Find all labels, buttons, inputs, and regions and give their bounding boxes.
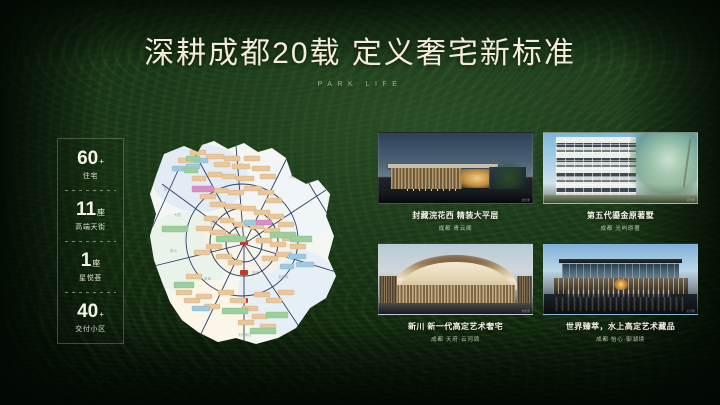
project-title: 新川 新一代高定艺术奢宅 (378, 322, 533, 332)
stat-label: 交付小区 (75, 324, 105, 334)
photo-watermark: 实景图 (687, 198, 695, 202)
svg-text:大邑: 大邑 (174, 212, 181, 217)
stat-number: 40 + (77, 302, 104, 321)
photo-watermark: 实景图 (687, 309, 695, 313)
project-caption: 世界臻萃，水上高定艺术藏品 成都 怡心·御湖境 (543, 322, 698, 343)
stat-number-suffix: + (99, 311, 104, 319)
stat-number-value: 11 (76, 200, 96, 219)
stat-label: 星悦荟 (79, 273, 102, 283)
project-card[interactable]: 实景图 第五代鎏金原著墅 成都 光屿原著 (543, 132, 698, 241)
stat-number: 60 + (77, 149, 104, 168)
stat-number-suffix: + (99, 158, 104, 166)
project-location: 成都 青云阁 (378, 224, 533, 232)
stat-number: 1 座 (81, 251, 101, 270)
project-title: 封藏浣花西 精装大平层 (378, 211, 533, 221)
map-svg: 彭州 青白江 大邑 温江 双流 新津 龙泉驿 天府新区 崇州 (140, 132, 345, 350)
project-card[interactable]: 效果图 新川 新一代高定艺术奢宅 成都 天府·云河颂 (378, 243, 533, 352)
project-title: 第五代鎏金原著墅 (543, 211, 698, 221)
project-photo-arc-pavilion: 效果图 (378, 243, 533, 315)
svg-text:青白江: 青白江 (290, 174, 301, 179)
svg-text:温江: 温江 (210, 220, 217, 225)
project-photo-white-villa: 实景图 (543, 132, 698, 204)
slide-stage: 深耕成都20载 定义奢宅新标准 PARK LIFE 60 + 住宅 11 座 高… (0, 0, 720, 405)
svg-text:新津: 新津 (204, 276, 211, 281)
stat-label: 住宅 (83, 171, 98, 181)
project-location: 成都 天府·云河颂 (378, 335, 533, 343)
project-card[interactable]: 实景图 世界臻萃，水上高定艺术藏品 成都 怡心·御湖境 (543, 243, 698, 352)
project-title: 世界臻萃，水上高定艺术藏品 (543, 322, 698, 332)
map-landmass: 彭州 青白江 大邑 温江 双流 新津 龙泉驿 天府新区 崇州 (140, 132, 345, 350)
page-subtitle: PARK LIFE (0, 81, 720, 88)
page-title: 深耕成都20载 定义奢宅新标准 (0, 38, 720, 70)
stat-item-residence: 60 + 住宅 (58, 139, 123, 190)
photo-watermark: 效果图 (522, 309, 530, 313)
svg-text:龙泉驿: 龙泉驿 (278, 274, 289, 279)
project-caption: 新川 新一代高定艺术奢宅 成都 天府·云河颂 (378, 322, 533, 343)
stat-number-value: 40 (77, 302, 98, 321)
stats-panel: 60 + 住宅 11 座 高端天街 1 座 星悦荟 40 + 交付小区 (57, 138, 124, 344)
project-photo-water-clubhouse: 实景图 (543, 243, 698, 315)
project-location: 成都 怡心·御湖境 (543, 335, 698, 343)
project-card[interactable]: 效果图 封藏浣花西 精装大平层 成都 青云阁 (378, 132, 533, 241)
stat-number: 11 座 (76, 200, 105, 219)
project-card-grid: 效果图 封藏浣花西 精装大平层 成都 青云阁 实景图 第五代鎏金原著墅 成都 光… (378, 132, 698, 352)
photo-watermark: 效果图 (522, 198, 530, 202)
stat-item-skymall: 11 座 高端天街 (58, 190, 123, 241)
svg-text:彭州: 彭州 (164, 186, 171, 191)
stat-label: 高端天街 (75, 222, 105, 232)
slide-header: 深耕成都20载 定义奢宅新标准 PARK LIFE (0, 38, 720, 88)
svg-text:天府新区: 天府新区 (238, 332, 252, 337)
project-photo-pavilion-dusk: 效果图 (378, 132, 533, 204)
project-caption: 封藏浣花西 精装大平层 成都 青云阁 (378, 211, 533, 232)
project-caption: 第五代鎏金原著墅 成都 光屿原著 (543, 211, 698, 232)
svg-text:双流: 双流 (252, 270, 259, 275)
stat-item-xingyuehui: 1 座 星悦荟 (58, 241, 123, 292)
project-location: 成都 光屿原著 (543, 224, 698, 232)
stat-number-suffix: 座 (97, 209, 105, 217)
stat-number-value: 1 (81, 251, 92, 270)
svg-text:崇州: 崇州 (170, 248, 177, 253)
stat-number-value: 60 (77, 149, 98, 168)
stat-item-delivered: 40 + 交付小区 (58, 292, 123, 343)
stat-number-suffix: 座 (92, 260, 100, 268)
chengdu-distribution-map: 彭州 青白江 大邑 温江 双流 新津 龙泉驿 天府新区 崇州 住宅 (140, 132, 345, 350)
